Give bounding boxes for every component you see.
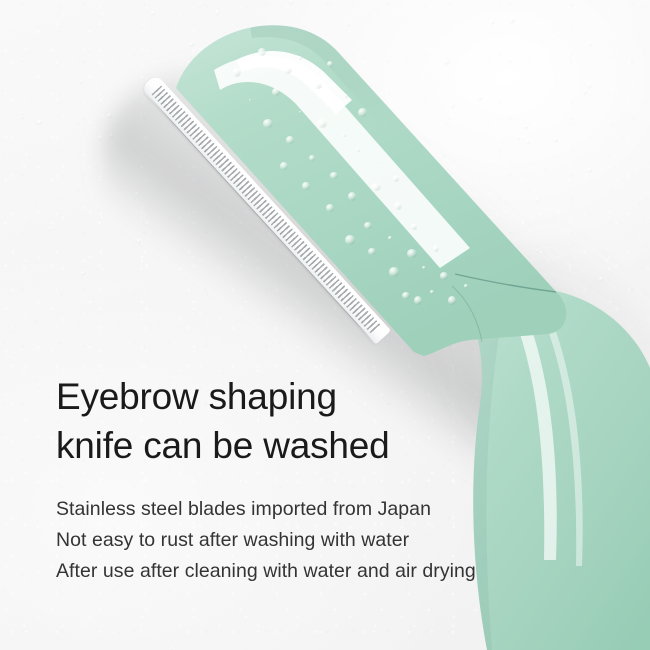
feature-item: After use after cleaning with water and … xyxy=(56,556,596,587)
headline-line-2: knife can be washed xyxy=(56,421,596,470)
feature-item: Stainless steel blades imported from Jap… xyxy=(56,494,596,525)
copy-block: Eyebrow shaping knife can be washed Stai… xyxy=(56,372,596,587)
feature-list: Stainless steel blades imported from Jap… xyxy=(56,494,596,587)
feature-item: Not easy to rust after washing with wate… xyxy=(56,525,596,556)
headline-line-1: Eyebrow shaping xyxy=(56,372,596,421)
product-banner: Eyebrow shaping knife can be washed Stai… xyxy=(0,0,650,650)
